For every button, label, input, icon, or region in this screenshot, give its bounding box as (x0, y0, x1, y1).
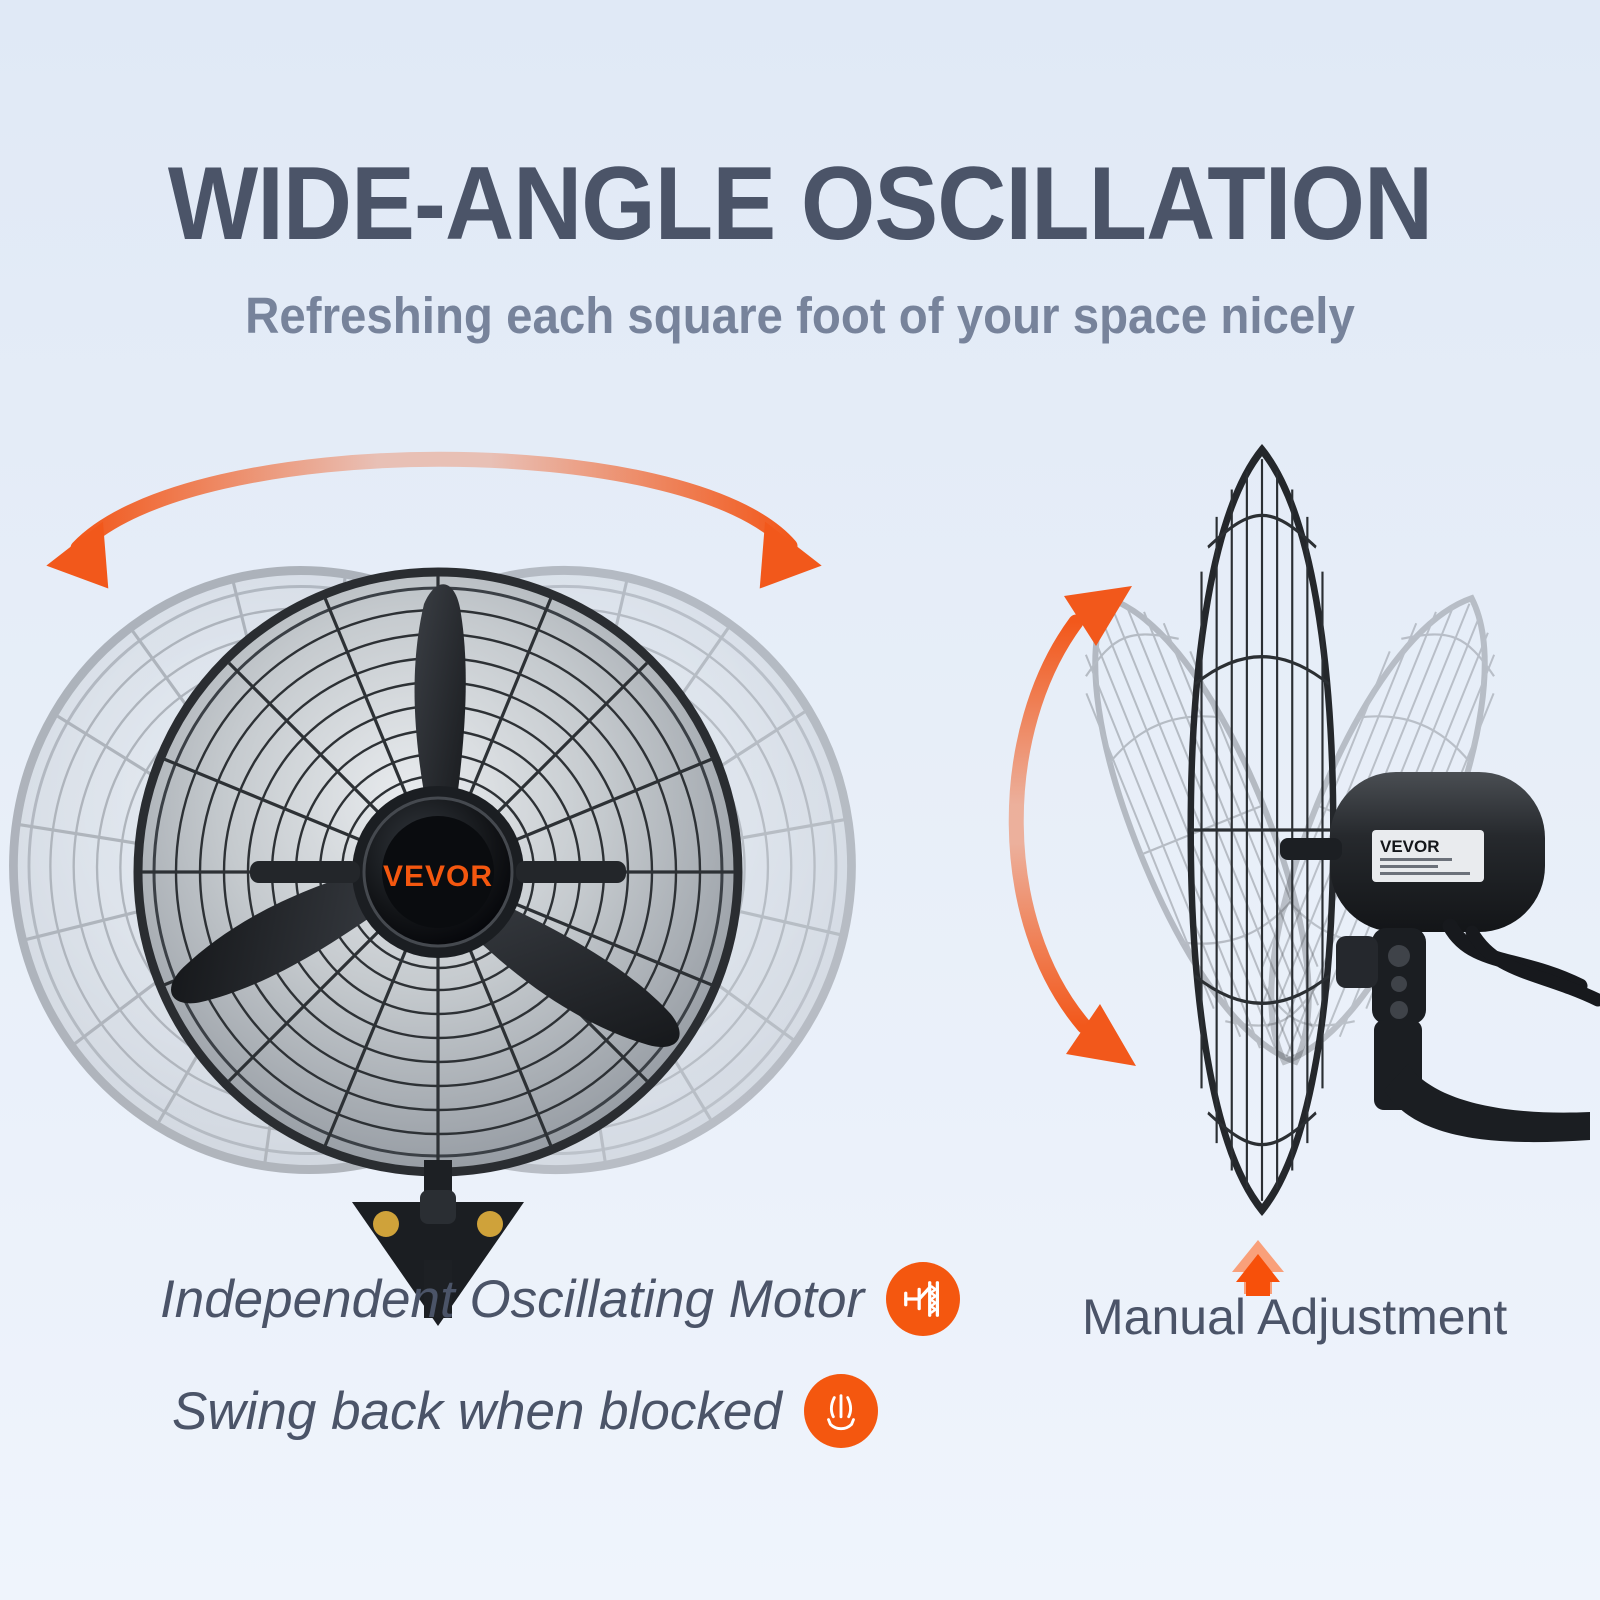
annotation-manual-adjustment: Manual Adjustment (1082, 1288, 1507, 1346)
swing-back-icon (804, 1374, 878, 1448)
marketing-banner: WIDE-ANGLE OSCILLATION Refreshing each s… (0, 0, 1600, 1600)
feature-swing-back-when-blocked: Swing back when blocked (172, 1374, 878, 1448)
feature-independent-oscillating-motor: Independent Oscillating Motor (160, 1262, 960, 1336)
tilt-bracket (1336, 928, 1590, 1142)
manual-adjustment-label: Manual Adjustment (1082, 1288, 1507, 1346)
page-title: WIDE-ANGLE OSCILLATION (64, 152, 1536, 256)
side-fan-cage (1191, 450, 1334, 1210)
feature-label-0: Independent Oscillating Motor (160, 1269, 864, 1330)
side-view-fan: VEVOR (980, 400, 1600, 1320)
front-view-fan: VEVOR (0, 420, 860, 1300)
hub-brand-label: VEVOR (383, 860, 493, 893)
motor-label-brand: VEVOR (1380, 837, 1440, 856)
feature-label-1: Swing back when blocked (172, 1381, 782, 1442)
page-subtitle: Refreshing each square foot of your spac… (56, 286, 1544, 345)
oscillating-motor-icon (886, 1262, 960, 1336)
